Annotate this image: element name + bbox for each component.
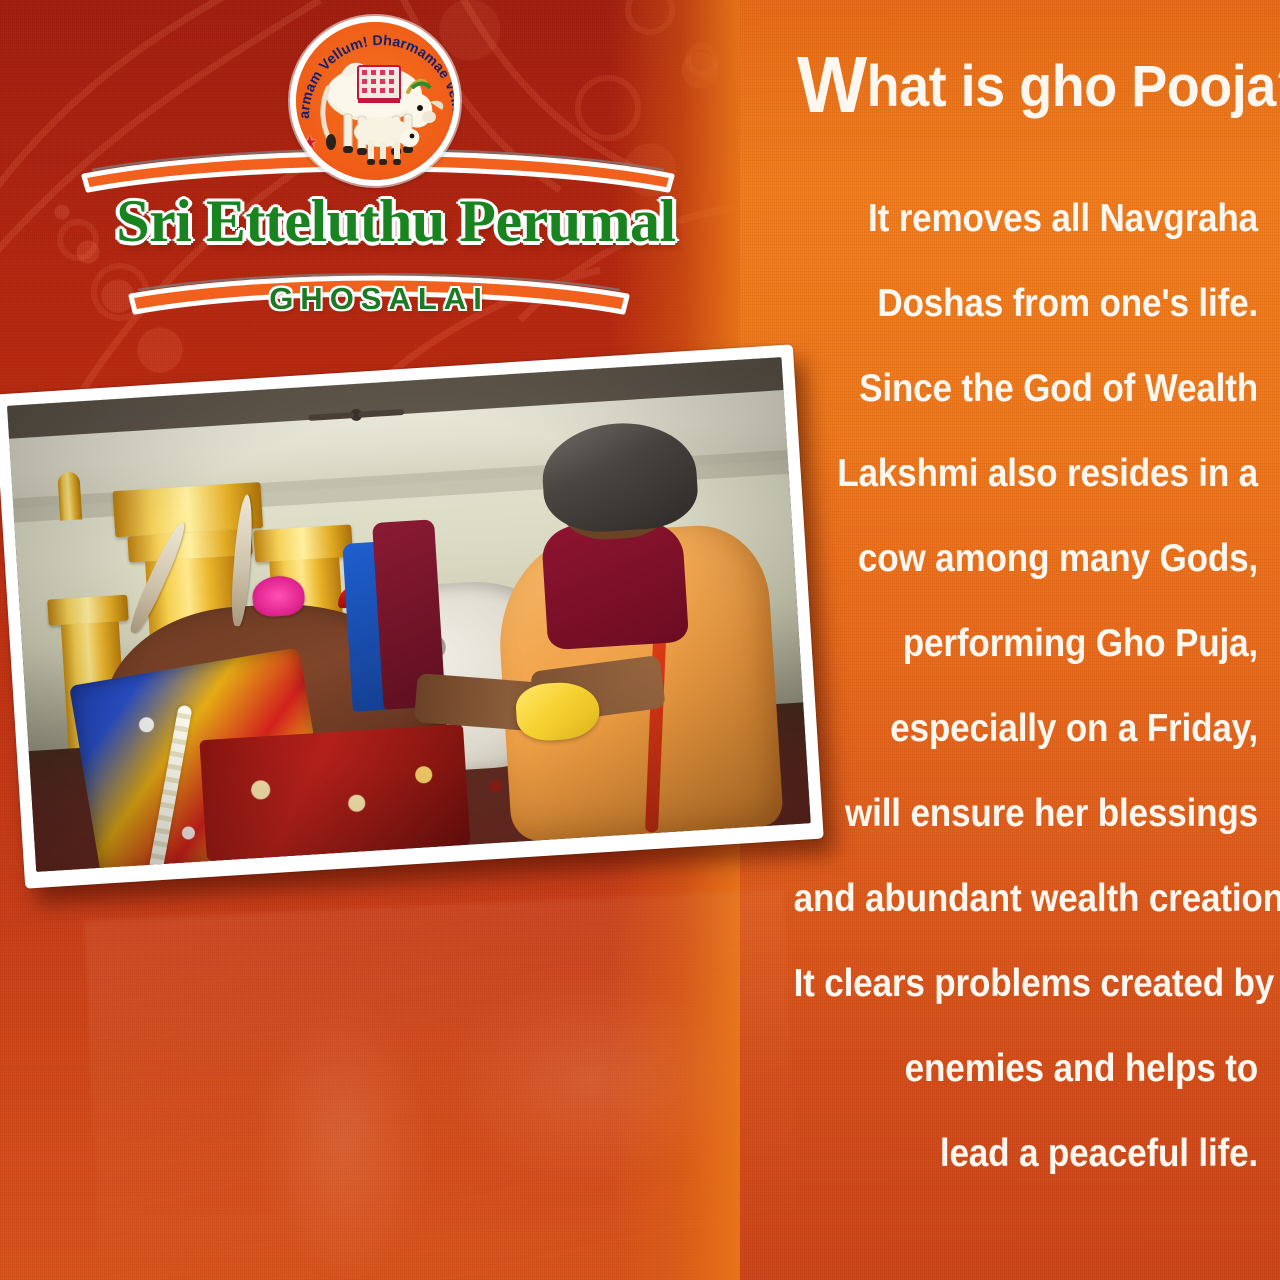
page-title: What is gho Pooja? xyxy=(797,52,1260,120)
photo-frame xyxy=(0,344,824,888)
temple-cow-pooja-photo xyxy=(7,357,811,872)
body-line: will ensure her blessings xyxy=(794,771,1258,856)
logo-emblem-circle: Dharmam Vellum! Dharmamae Vellum!! ★ ★ xyxy=(290,16,460,186)
cow-body-cloth xyxy=(199,723,470,861)
body-line: and abundant wealth creation. xyxy=(794,856,1258,941)
body-line: performing Gho Puja, xyxy=(794,601,1258,686)
star-left-icon: ★ xyxy=(302,134,317,151)
body-line: Doshas from one's life. xyxy=(794,261,1258,346)
svg-text:Dharmam Vellum! Dharmamae Vell: Dharmam Vellum! Dharmamae Vellum!! xyxy=(293,19,460,119)
body-line: It removes all Navgraha xyxy=(794,176,1258,261)
body-line: cow among many Gods, xyxy=(794,516,1258,601)
headline-rest: hat is gho Pooja? xyxy=(867,54,1280,119)
brand-name: Sri Etteluthu Perumal xyxy=(76,190,716,252)
body-line: lead a peaceful life. xyxy=(794,1111,1258,1196)
headline-drop-cap: W xyxy=(797,40,867,129)
body-line: Since the God of Wealth xyxy=(794,346,1258,431)
body-line: especially on a Friday, xyxy=(794,686,1258,771)
brand-subtitle: GHOSALAI xyxy=(126,281,632,317)
body-paragraph: It removes all Navgraha Doshas from one'… xyxy=(794,176,1258,1196)
body-line: enemies and helps to xyxy=(794,1026,1258,1111)
ghost-watermark-image xyxy=(84,890,800,1280)
brand-logo: Dharmam Vellum! Dharmamae Vellum!! ★ ★ S… xyxy=(78,16,708,336)
body-line: It clears problems created by xyxy=(794,941,1258,1026)
gold-finial xyxy=(57,471,82,520)
emblem-motto-text: Dharmam Vellum! Dharmamae Vellum!! xyxy=(293,19,460,119)
emblem-motto-arc: Dharmam Vellum! Dharmamae Vellum!! xyxy=(293,19,460,186)
poster-canvas: Dharmam Vellum! Dharmamae Vellum!! ★ ★ S… xyxy=(0,0,1280,1280)
body-line: Lakshmi also resides in a xyxy=(794,431,1258,516)
hair xyxy=(540,419,700,535)
woman-in-orange-saree xyxy=(475,414,795,843)
